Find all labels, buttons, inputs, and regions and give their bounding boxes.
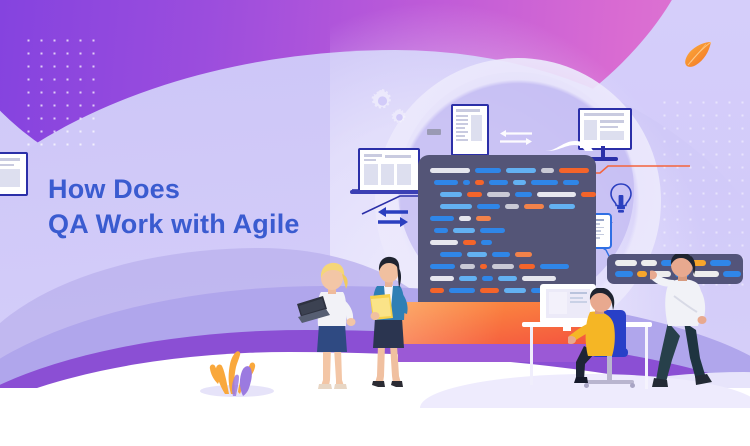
code-line-segment	[463, 240, 476, 245]
code-line-segment	[541, 168, 554, 173]
code-line-segment	[531, 180, 558, 185]
laptop-dashboard-icon[interactable]	[358, 148, 420, 194]
code-line-segment	[440, 252, 462, 257]
code-line-segment	[498, 276, 517, 281]
code-line-segment	[480, 264, 487, 269]
illustration-banner: How Does QA Work with Agile	[0, 0, 750, 446]
code-line-segment	[463, 180, 470, 185]
lightbulb-icon	[608, 182, 634, 216]
code-line-segment	[522, 276, 556, 281]
code-line-segment	[440, 204, 472, 209]
code-line-segment	[460, 264, 475, 269]
code-line-segment	[449, 288, 475, 293]
woman-with-laptop	[296, 262, 366, 392]
code-line-segment	[487, 192, 510, 197]
swoosh-decoration	[545, 140, 593, 156]
code-line-segment	[492, 264, 514, 269]
code-line-segment	[476, 216, 491, 221]
work-desk-leg-left	[530, 327, 533, 385]
code-line-segment	[504, 288, 526, 293]
code-line-segment	[581, 192, 596, 197]
code-line-segment	[459, 216, 471, 221]
code-line-segment	[480, 288, 499, 293]
document-panel-icon[interactable]	[451, 104, 489, 156]
exchange-arrows-icon	[498, 126, 534, 148]
seated-developer	[568, 288, 630, 392]
standing-presenter	[650, 254, 728, 394]
laptop-base	[350, 190, 424, 194]
code-line-segment	[430, 288, 444, 293]
code-line-segment	[563, 180, 579, 185]
code-line-segment	[459, 276, 477, 281]
code-line-segment	[549, 204, 575, 209]
code-line-segment	[482, 276, 493, 281]
woman-with-folder	[358, 256, 420, 392]
code-line-segment	[430, 168, 470, 173]
code-line-segment	[475, 180, 484, 185]
task-list-bar	[615, 260, 637, 266]
code-line-segment	[489, 180, 508, 185]
code-line-segment	[481, 240, 492, 245]
code-line-segment	[492, 252, 510, 257]
code-line-segment	[519, 264, 535, 269]
code-line-segment	[524, 204, 544, 209]
chair-caster	[630, 383, 635, 388]
code-line-segment	[434, 228, 448, 233]
code-line-segment	[537, 192, 576, 197]
code-line-segment	[430, 216, 454, 221]
code-line-segment	[506, 168, 536, 173]
code-line-segment	[540, 264, 569, 269]
task-list-bar	[637, 271, 647, 277]
code-line-segment	[440, 192, 462, 197]
sync-arrows-icon	[378, 206, 408, 228]
code-line-segment	[477, 204, 500, 209]
code-line-segment	[513, 180, 526, 185]
code-line-segment	[475, 168, 501, 173]
code-line-segment	[480, 228, 505, 233]
code-line-segment	[430, 276, 454, 281]
code-line-segment	[505, 204, 519, 209]
code-line-segment	[515, 192, 532, 197]
code-line-segment	[559, 168, 589, 173]
code-line-segment	[434, 180, 458, 185]
code-line-segment	[467, 252, 487, 257]
work-desk-leg-right	[645, 327, 648, 389]
code-line-segment	[430, 264, 455, 269]
code-line-segment	[515, 252, 532, 257]
code-line-segment	[467, 192, 482, 197]
counter-base	[398, 344, 588, 362]
code-line-segment	[453, 228, 475, 233]
task-list-bar	[615, 271, 633, 277]
divider-chip	[427, 129, 441, 135]
document-panel-icon-left[interactable]	[0, 152, 28, 196]
code-line-segment	[430, 240, 458, 245]
